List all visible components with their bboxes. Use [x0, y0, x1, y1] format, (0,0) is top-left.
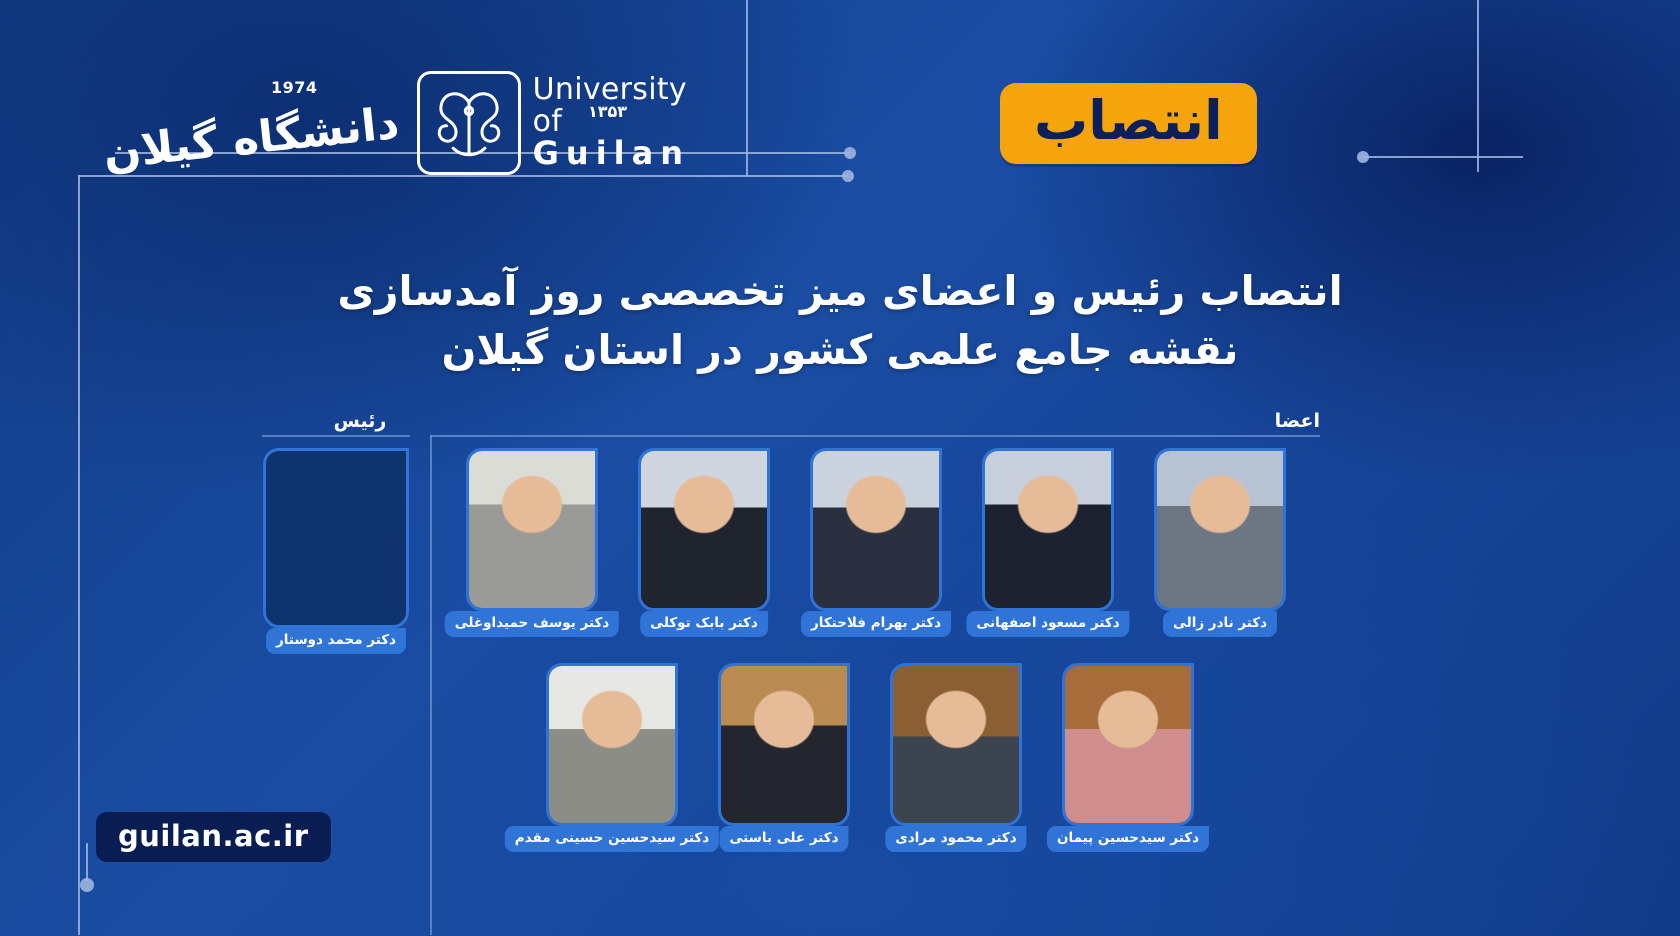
logo-english-text: University of Guilan	[533, 74, 690, 171]
member-card-row2-3[interactable]: دکتر محمود مرادی	[890, 663, 1022, 826]
member-card-row2-2[interactable]: دکتر علی باستی	[718, 663, 850, 826]
person-photo	[721, 666, 847, 823]
person-photo	[1065, 666, 1191, 823]
member-card-row2-1[interactable]: دکتر سیدحسین حسینی مقدم	[546, 663, 678, 826]
logo-line-guilan: Guilan	[533, 137, 690, 171]
chief-bracket-horizontal	[262, 435, 410, 437]
person-photo-frame	[1062, 663, 1194, 826]
person-photo-frame	[1154, 448, 1286, 611]
person-name-label: دکتر علی باستی	[719, 826, 848, 852]
member-card-row1-3[interactable]: دکتر بهرام فلاحتکار	[810, 448, 942, 611]
person-name-label: دکتر بابک توکلی	[640, 611, 768, 637]
person-photo	[1157, 451, 1283, 608]
logo-persian-text: دانشگاه گیلان	[101, 101, 407, 176]
person-photo	[813, 451, 939, 608]
decorative-dot-bottom-left	[80, 878, 94, 892]
person-name-label: دکتر محمد دوستار	[266, 628, 406, 654]
person-name-label: دکتر مسعود اصفهانی	[966, 611, 1129, 637]
person-photo-frame	[982, 448, 1114, 611]
member-card-row2-4[interactable]: دکتر سیدحسین پیمان	[1062, 663, 1194, 826]
decorative-line-top-right-h	[1363, 156, 1523, 158]
appointment-badge: انتصاب	[1000, 83, 1257, 164]
logo-year-gregorian: 1974	[271, 78, 318, 97]
person-photo	[549, 666, 675, 823]
decorative-dot-top-right	[1357, 151, 1369, 163]
person-name-label: دکتر یوسف حمیداوغلی	[445, 611, 619, 637]
person-photo-frame	[263, 448, 409, 628]
chief-card[interactable]: دکتر محمد دوستار	[263, 448, 409, 628]
person-name-label: دکتر بهرام فلاحتکار	[801, 611, 951, 637]
member-card-row1-5[interactable]: دکتر نادر زالی	[1154, 448, 1286, 611]
decorative-dot-top-left	[842, 170, 854, 182]
person-name-label: دکتر سیدحسین پیمان	[1047, 826, 1209, 852]
person-photo-frame	[718, 663, 850, 826]
decorative-line-top-right-v	[1477, 0, 1479, 172]
members-bracket-vertical	[430, 435, 432, 935]
person-photo-frame	[546, 663, 678, 826]
person-photo	[985, 451, 1111, 608]
member-card-row1-4[interactable]: دکتر مسعود اصفهانی	[982, 448, 1114, 611]
logo-year-persian: ۱۳۵۳	[588, 102, 627, 121]
person-photo	[266, 451, 406, 625]
person-photo	[469, 451, 595, 608]
website-url-badge[interactable]: guilan.ac.ir	[96, 812, 331, 862]
person-photo-frame	[810, 448, 942, 611]
title-line-2: نقشه جامع علمی کشور در استان گیلان	[0, 321, 1680, 380]
university-logo: University of Guilan دانشگاه گیلان 1974 …	[150, 60, 690, 185]
decorative-line-bottom-stub	[86, 843, 88, 881]
members-bracket-horizontal	[430, 435, 1320, 437]
person-photo-frame	[890, 663, 1022, 826]
person-name-label: دکتر سیدحسین حسینی مقدم	[505, 826, 719, 852]
member-card-row1-1[interactable]: دکتر یوسف حمیداوغلی	[466, 448, 598, 611]
member-card-row1-2[interactable]: دکتر بابک توکلی	[638, 448, 770, 611]
person-name-label: دکتر محمود مرادی	[885, 826, 1026, 852]
decorative-dot-top-left-2	[844, 147, 856, 159]
person-photo-frame	[466, 448, 598, 611]
section-label-members: اعضا	[1190, 410, 1320, 432]
person-name-label: دکتر نادر زالی	[1163, 611, 1277, 637]
person-photo	[641, 451, 767, 608]
decorative-line-top-fold	[746, 0, 748, 176]
page-title: انتصاب رئیس و اعضای میز تخصصی روز آمدساز…	[0, 262, 1680, 381]
guilan-butterfly-emblem-icon	[417, 71, 521, 175]
person-photo	[893, 666, 1019, 823]
section-label-chief: رئیس	[300, 410, 420, 432]
person-photo-frame	[638, 448, 770, 611]
poster-canvas: University of Guilan دانشگاه گیلان 1974 …	[0, 0, 1680, 936]
title-line-1: انتصاب رئیس و اعضای میز تخصصی روز آمدساز…	[0, 262, 1680, 321]
